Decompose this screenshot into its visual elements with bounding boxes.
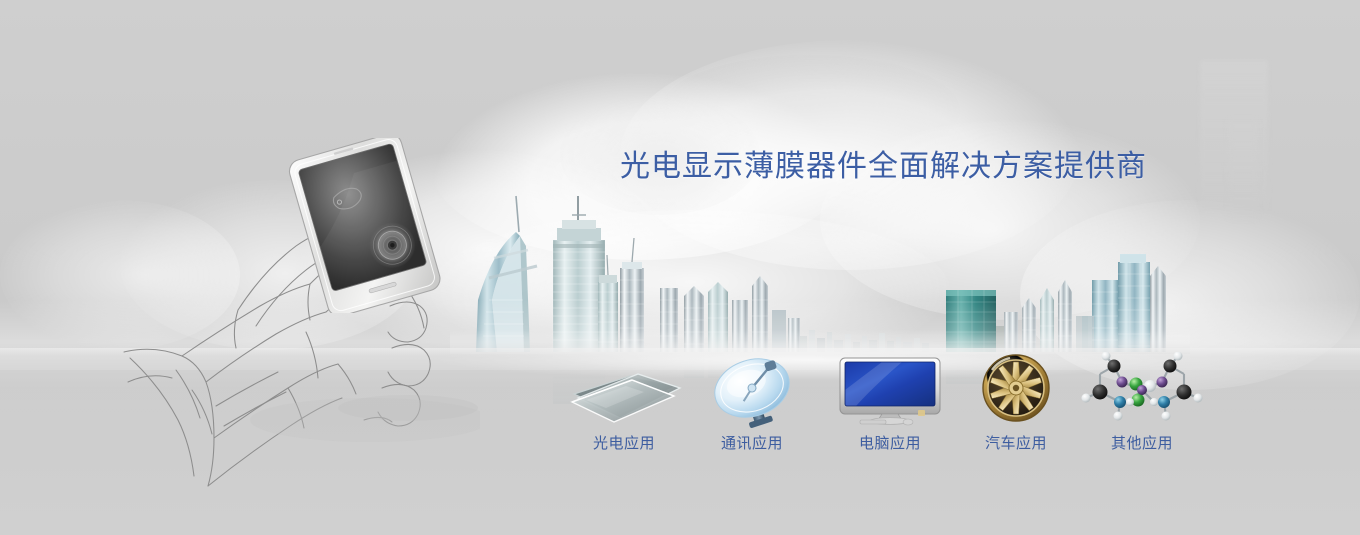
application-label-automotive: 汽车应用 [952, 432, 1080, 453]
satellite-dish-icon [688, 352, 816, 428]
car-wheel-rim-icon [952, 352, 1080, 428]
application-item-automotive[interactable]: 汽车应用 [952, 352, 1080, 453]
smartphone-device [285, 138, 445, 313]
application-item-other[interactable]: 其他应用 [1078, 352, 1206, 453]
application-label-communication: 通讯应用 [688, 432, 816, 453]
computer-monitor-icon [826, 352, 954, 428]
application-item-computer[interactable]: 电脑应用 [826, 352, 954, 453]
molecule-model-icon [1078, 352, 1206, 428]
glass-film-sheets-icon [560, 352, 688, 428]
page-title: 光电显示薄膜器件全面解决方案提供商 [620, 141, 1147, 185]
application-label-computer: 电脑应用 [826, 432, 954, 453]
hero-banner: 光电显示薄膜器件全面解决方案提供商 [0, 0, 1360, 535]
application-item-optoelectronic[interactable]: 光电应用 [560, 352, 688, 453]
application-icon-row: 光电应用 [560, 352, 1200, 462]
application-label-optoelectronic: 光电应用 [560, 432, 688, 453]
application-label-other: 其他应用 [1078, 432, 1206, 453]
application-item-communication[interactable]: 通讯应用 [688, 352, 816, 453]
